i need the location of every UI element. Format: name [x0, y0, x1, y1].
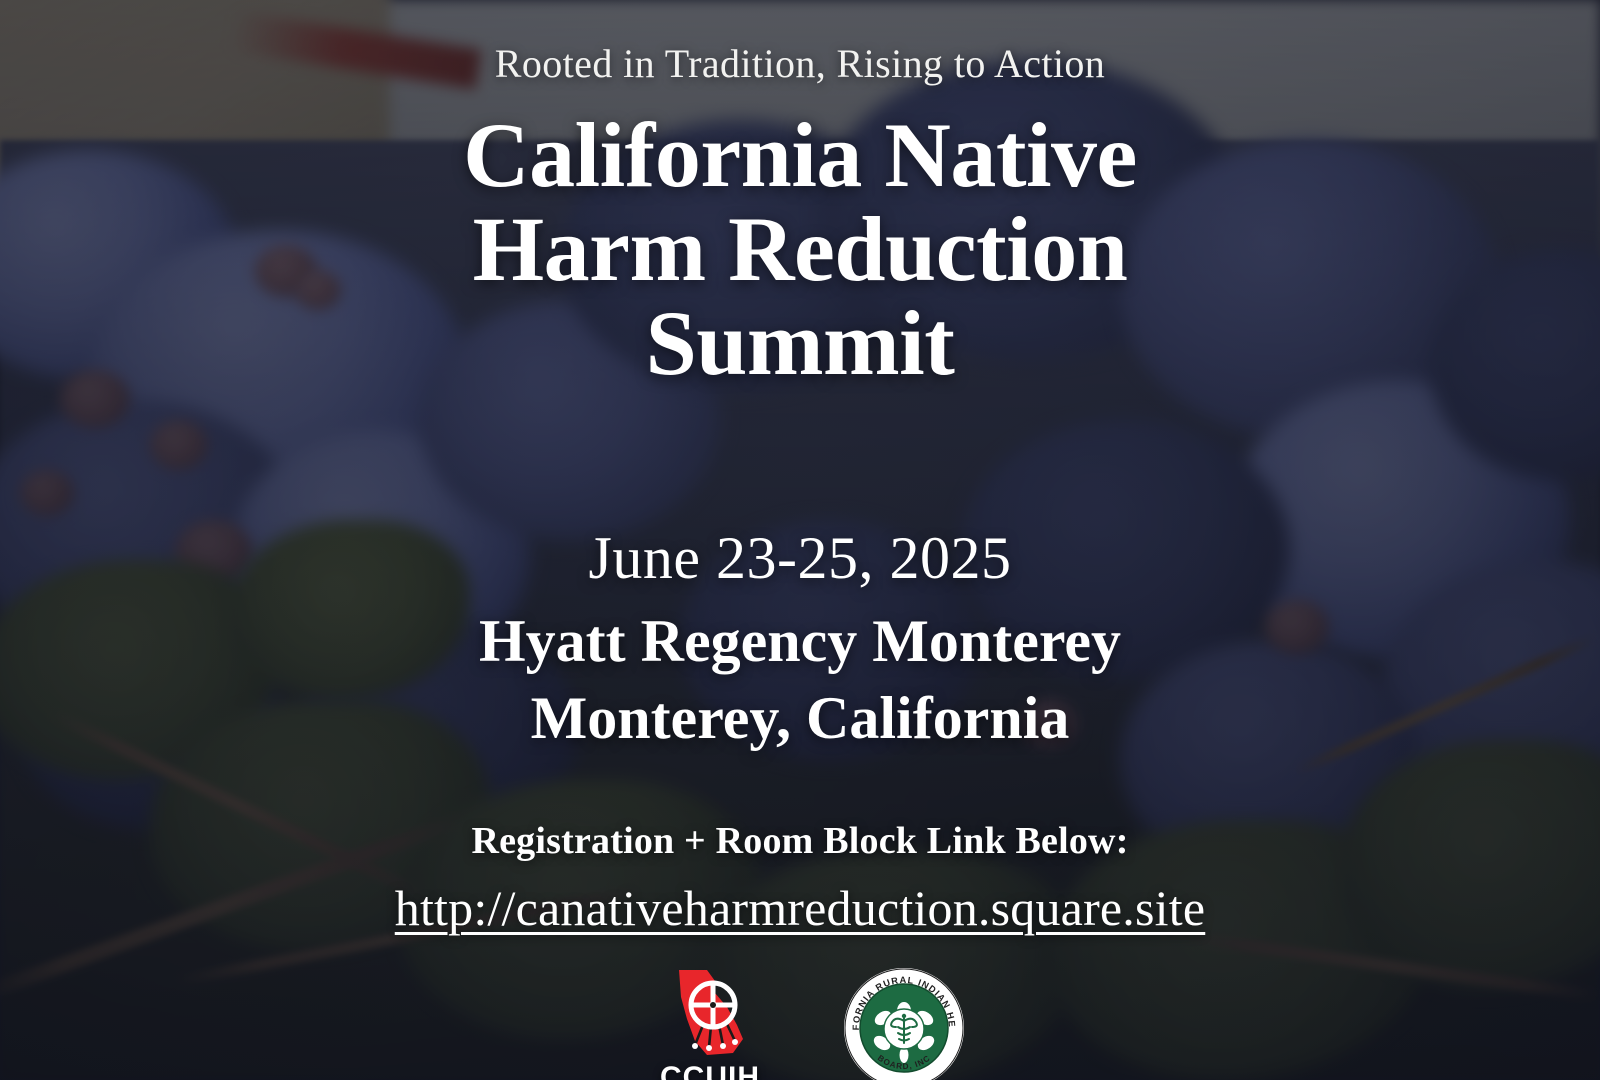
flyer-content: Rooted in Tradition, Rising to Action Ca…: [0, 0, 1600, 1080]
registration-link[interactable]: http://canativeharmreduction.square.site: [395, 879, 1206, 937]
event-venue: Hyatt Regency Monterey Monterey, Califor…: [479, 603, 1121, 757]
ccuih-mark: [645, 967, 775, 1059]
venue-line-1: Hyatt Regency Monterey: [479, 603, 1121, 680]
ccuih-logo: CCUIH: [635, 967, 785, 1080]
crihb-seal-icon: CALIFORNIA RURAL INDIAN HEALTH BOARD, IN…: [843, 967, 965, 1080]
logo-row: CCUIH CALIFORNIA RURA: [635, 967, 965, 1080]
venue-line-2: Monterey, California: [479, 680, 1121, 757]
event-title: California Native Harm Reduction Summit: [463, 109, 1137, 390]
ccuih-wordmark: CCUIH: [660, 1061, 760, 1080]
event-date: June 23-25, 2025: [589, 524, 1012, 593]
crihb-logo: CALIFORNIA RURAL INDIAN HEALTH BOARD, IN…: [843, 967, 965, 1080]
title-line-2: Harm Reduction: [463, 203, 1137, 297]
california-medicine-wheel-icon: [645, 967, 775, 1059]
registration-label: Registration + Room Block Link Below:: [471, 819, 1128, 863]
title-line-3: Summit: [463, 297, 1137, 391]
event-flyer: Rooted in Tradition, Rising to Action Ca…: [0, 0, 1600, 1080]
tagline: Rooted in Tradition, Rising to Action: [495, 40, 1105, 87]
title-line-1: California Native: [463, 109, 1137, 203]
